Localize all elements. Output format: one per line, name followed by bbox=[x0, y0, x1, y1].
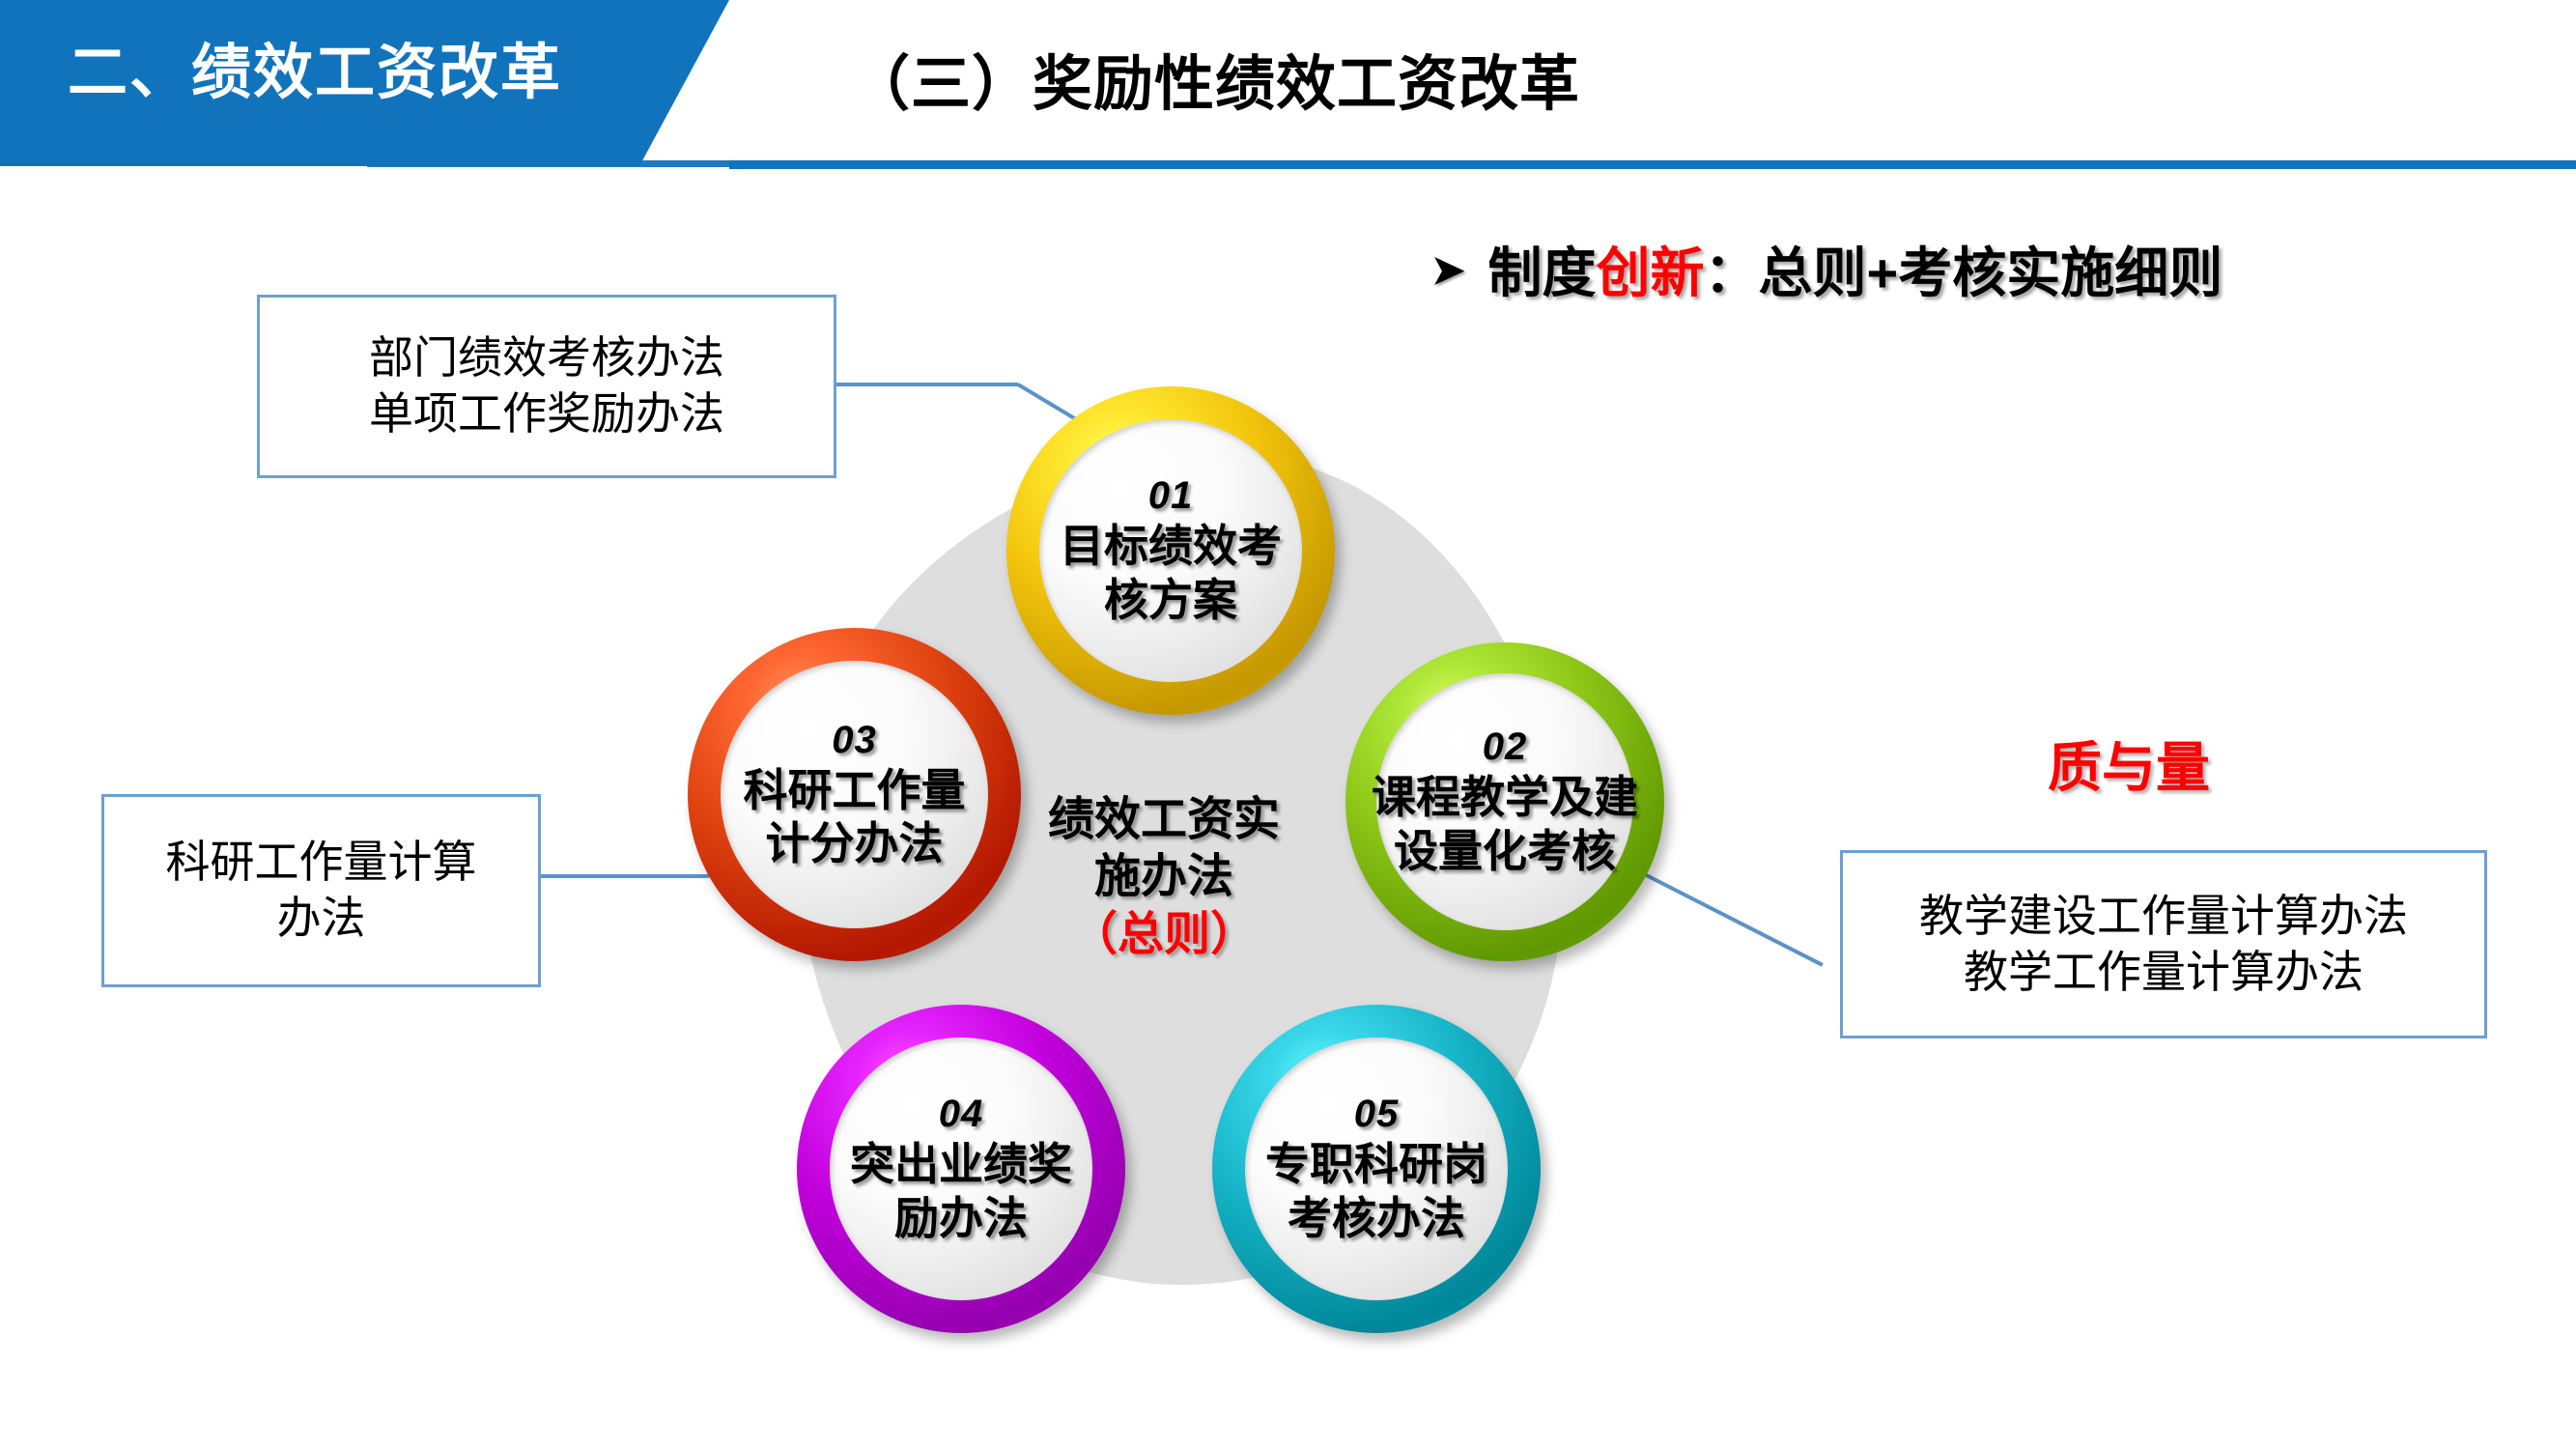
ring-01-label-line2: 核方案 bbox=[993, 574, 1347, 627]
connector-callout2-h bbox=[541, 874, 705, 878]
callout-box-1: 部门绩效考核办法 单项工作奖励办法 bbox=[257, 295, 836, 478]
ring-04-label-line2: 励办法 bbox=[783, 1192, 1138, 1245]
ring-01-label-line1: 目标绩效考 bbox=[993, 520, 1347, 573]
header-rule-left bbox=[367, 160, 729, 167]
slide-canvas: 二、绩效工资改革 （三）奖励性绩效工资改革 ➤ 制度创新：总则+考核实施细则 质… bbox=[0, 0, 2576, 1450]
bullet-prefix: 制度 bbox=[1488, 242, 1597, 303]
ring-04-text: 04 突出业绩奖 励办法 bbox=[783, 1093, 1138, 1244]
callout-3-line1: 教学建设工作量计算办法 bbox=[1919, 889, 2408, 945]
bullet-statement: ➤ 制度创新：总则+考核实施细则 bbox=[1430, 230, 2222, 308]
ring-03-text: 03 科研工作量 计分办法 bbox=[674, 719, 1034, 870]
ring-05-label-line1: 专职科研岗 bbox=[1199, 1138, 1553, 1191]
callout-1-line2: 单项工作奖励办法 bbox=[369, 386, 724, 442]
callout-1-line1: 部门绩效考核办法 bbox=[369, 330, 724, 386]
ring-02-text: 02 课程教学及建 设量化考核 bbox=[1333, 725, 1677, 877]
callout-box-2: 科研工作量计算 办法 bbox=[101, 794, 541, 987]
ring-05-label-line2: 考核办法 bbox=[1199, 1192, 1553, 1245]
connector-callout1-h bbox=[836, 383, 1018, 386]
ring-01-number: 01 bbox=[993, 474, 1347, 518]
ring-05-text: 05 专职科研岗 考核办法 bbox=[1199, 1093, 1553, 1244]
page-title: （三）奖励性绩效工资改革 bbox=[850, 35, 1580, 122]
ring-03-label-line2: 计分办法 bbox=[674, 817, 1034, 870]
ring-03[interactable]: 03 科研工作量 计分办法 bbox=[688, 628, 1021, 961]
callout-3-line2: 教学工作量计算办法 bbox=[1964, 945, 2364, 1001]
ring-03-label-line1: 科研工作量 bbox=[674, 764, 1034, 817]
ring-04[interactable]: 04 突出业绩奖 励办法 bbox=[797, 1005, 1125, 1333]
arrow-bullet-icon: ➤ bbox=[1430, 247, 1467, 292]
bullet-suffix: ：总则+考核实施细则 bbox=[1705, 242, 2223, 303]
callout-box-3: 教学建设工作量计算办法 教学工作量计算办法 bbox=[1840, 850, 2487, 1038]
ring-04-label-line1: 突出业绩奖 bbox=[783, 1138, 1138, 1191]
ring-02-number: 02 bbox=[1333, 725, 1677, 769]
bullet-highlight: 创新 bbox=[1597, 242, 1705, 303]
ring-05-number: 05 bbox=[1199, 1093, 1553, 1136]
side-note-quality-quantity: 质与量 bbox=[2048, 725, 2210, 803]
center-label-sub: （总则） bbox=[1005, 905, 1323, 965]
ring-01-text: 01 目标绩效考 核方案 bbox=[993, 474, 1347, 626]
header-rule bbox=[729, 160, 2576, 169]
ring-03-number: 03 bbox=[674, 719, 1034, 762]
ring-02-label-line2: 设量化考核 bbox=[1333, 825, 1677, 878]
ring-04-number: 04 bbox=[783, 1093, 1138, 1136]
ring-02-label-line1: 课程教学及建 bbox=[1333, 771, 1677, 824]
header-section-label: 二、绩效工资改革 bbox=[68, 23, 562, 110]
ring-01[interactable]: 01 目标绩效考 核方案 bbox=[1006, 386, 1335, 715]
callout-2-line2: 办法 bbox=[277, 891, 366, 947]
callout-2-line1: 科研工作量计算 bbox=[166, 835, 477, 891]
center-label-line2: 施办法 bbox=[1005, 849, 1323, 906]
bullet-text: 制度创新：总则+考核实施细则 bbox=[1488, 230, 2223, 308]
ring-05[interactable]: 05 专职科研岗 考核办法 bbox=[1212, 1005, 1541, 1333]
diagram-center-label: 绩效工资实 施办法 （总则） bbox=[1005, 792, 1323, 965]
ring-02[interactable]: 02 课程教学及建 设量化考核 bbox=[1345, 642, 1664, 961]
center-label-line1: 绩效工资实 bbox=[1005, 792, 1323, 849]
